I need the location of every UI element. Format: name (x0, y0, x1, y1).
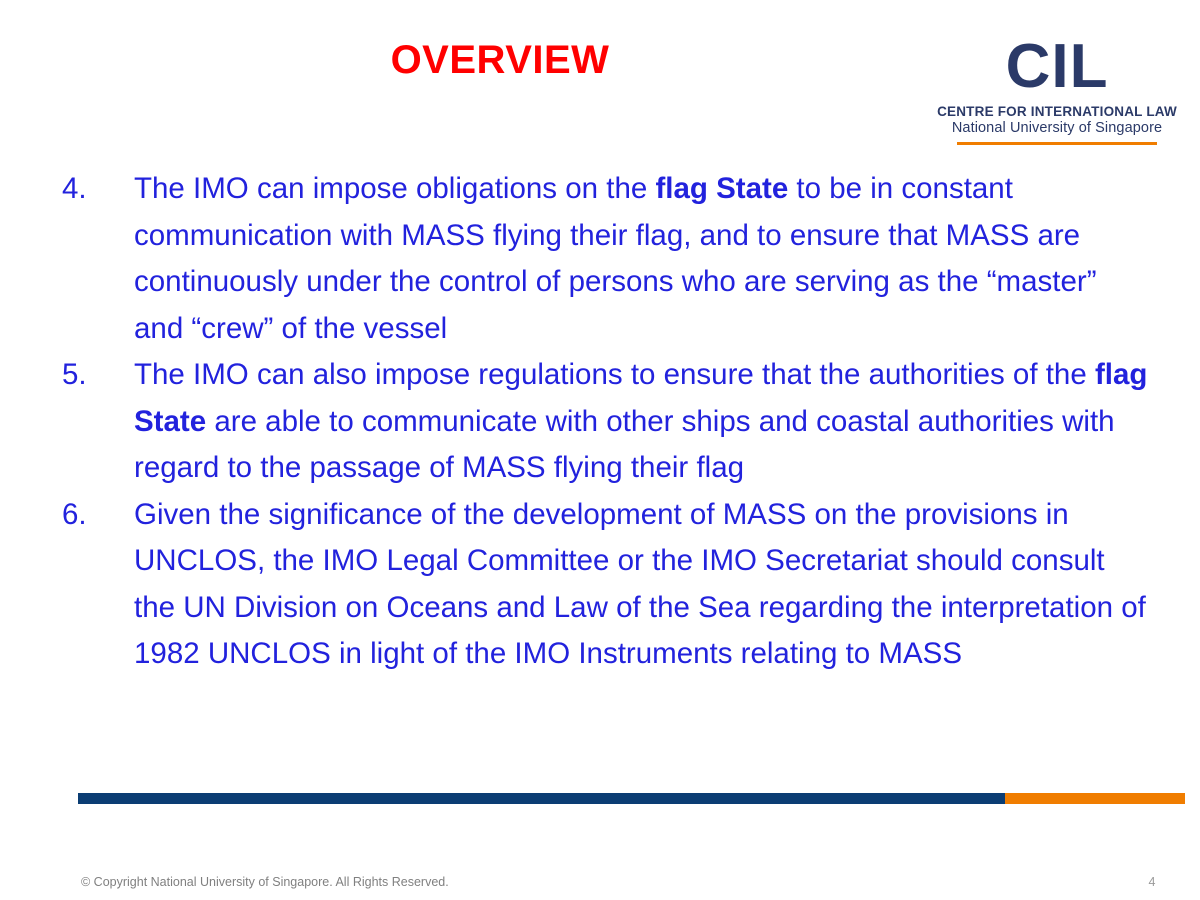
copyright-text: © Copyright National University of Singa… (81, 875, 449, 889)
list-item-text: Given the significance of the developmen… (134, 492, 1152, 678)
list-item-text: The IMO can also impose regulations to e… (134, 352, 1152, 492)
page-title: OVERVIEW (0, 38, 1000, 82)
cil-logo-centre-line: CENTRE FOR INTERNATIONAL LAW (932, 104, 1182, 119)
slide-canvas: OVERVIEW CIL CENTRE FOR INTERNATIONAL LA… (0, 0, 1200, 900)
cil-logo: CIL CENTRE FOR INTERNATIONAL LAW Nationa… (932, 38, 1182, 145)
footer-accent-bar-blue (78, 793, 1005, 804)
list-item-number: 6. (62, 492, 134, 539)
footer-accent-bar (78, 793, 1185, 804)
page-number: 4 (1140, 875, 1164, 889)
cil-logo-university-line: National University of Singapore (932, 120, 1182, 136)
list-item: 6.Given the significance of the developm… (62, 492, 1152, 678)
cil-logo-orange-rule (957, 142, 1157, 145)
body-text: The IMO can impose obligations on the (134, 172, 655, 205)
list-item: 5.The IMO can also impose regulations to… (62, 352, 1152, 492)
list-item-number: 5. (62, 352, 134, 399)
emphasis-text: flag State (655, 172, 788, 205)
body-text: Given the significance of the developmen… (134, 498, 1146, 671)
footer-accent-bar-orange (1005, 793, 1185, 804)
list-item-text: The IMO can impose obligations on the fl… (134, 166, 1152, 352)
list-item-number: 4. (62, 166, 134, 213)
cil-logo-mark: CIL (932, 38, 1182, 97)
body-text: The IMO can also impose regulations to e… (134, 358, 1095, 391)
list-item: 4.The IMO can impose obligations on the … (62, 166, 1152, 352)
body-text: are able to communicate with other ships… (134, 405, 1115, 485)
numbered-list: 4.The IMO can impose obligations on the … (62, 166, 1152, 678)
